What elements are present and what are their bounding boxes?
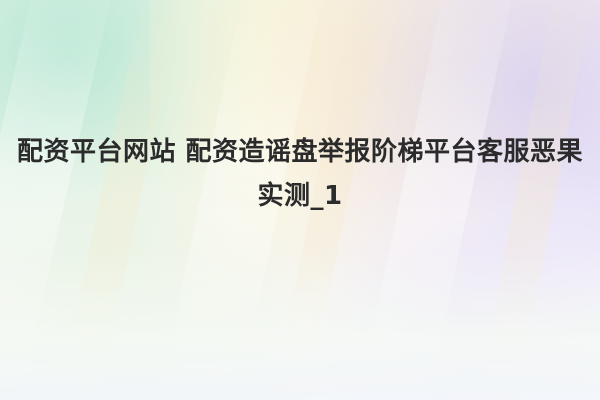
banner-headline: 配资平台网站 配资造谣盘举报阶梯平台客服恶果实测_1	[0, 130, 600, 218]
banner-image: 配资平台网站 配资造谣盘举报阶梯平台客服恶果实测_1	[0, 0, 600, 400]
gradient-wash-bottom-fade	[0, 250, 600, 400]
